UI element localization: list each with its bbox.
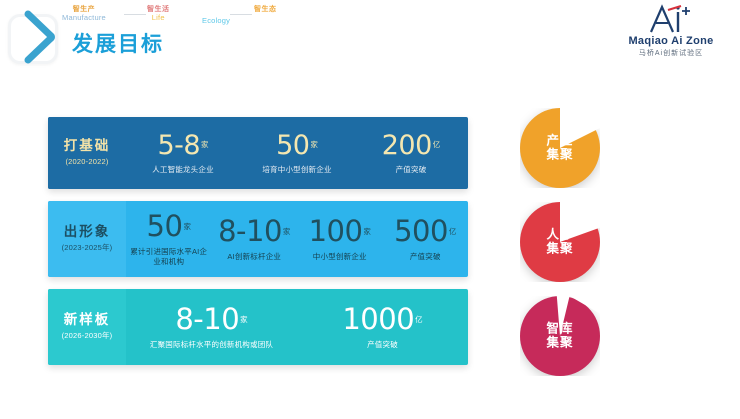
pie-badge-talent: 人才 集聚 xyxy=(520,202,600,282)
eyebrow-divider xyxy=(230,14,252,15)
metric-number: 100家 xyxy=(299,217,381,246)
metric-caption: 产值突破 xyxy=(299,340,466,350)
brand-name: Maqiao Ai Zone xyxy=(616,35,726,47)
phase-period: (2023-2025年) xyxy=(62,243,113,252)
chevron-right-icon xyxy=(24,10,58,64)
eyebrow-item-ecology: Ecology xyxy=(202,16,230,25)
metric-caption: 人工智能龙头企业 xyxy=(128,165,238,175)
metric-number: 5-8家 xyxy=(128,132,238,159)
metric-unit: 家 xyxy=(283,227,291,236)
ai-monogram-icon xyxy=(616,4,726,34)
phase-row: 新样板 (2026-2030年) 8-10家 汇聚国际标杆水平的创新机构或团队 … xyxy=(48,289,468,365)
metric-value: 8-10 xyxy=(218,214,282,248)
metric-value: 200 xyxy=(382,130,432,161)
metric-number: 50家 xyxy=(128,212,210,241)
phase-label: 打基础 (2020-2022) xyxy=(48,117,126,189)
metric-number: 50家 xyxy=(242,132,352,159)
metric-value: 5-8 xyxy=(157,130,200,161)
metric-item: 8-10家 汇聚国际标杆水平的创新机构或团队 xyxy=(126,305,297,350)
eyebrow-item-manufacture: 智生产 Manufacture xyxy=(62,6,106,22)
metric-caption: AI创新标杆企业 xyxy=(214,252,296,262)
metric-item: 8-10家 AI创新标杆企业 xyxy=(212,217,298,262)
slide-canvas: 智生产 Manufacture 智生活 Life Ecology 智生态 发展目… xyxy=(0,0,740,419)
metric-value: 8-10 xyxy=(175,302,239,336)
pie-badges: 产业 集聚 人才 集聚 智库 集聚 xyxy=(508,108,638,390)
pie-shape xyxy=(520,296,600,376)
page-title: 发展目标 xyxy=(72,28,164,58)
eyebrow-cn: 智生活 xyxy=(147,6,170,13)
eyebrow-en: Manufacture xyxy=(62,14,106,22)
metric-caption: 培育中小型创新企业 xyxy=(242,165,352,175)
metric-value: 500 xyxy=(394,214,448,248)
metric-number: 200亿 xyxy=(356,132,466,159)
brand-logo: Maqiao Ai Zone 马桥Ai创新试验区 xyxy=(616,4,726,58)
metric-caption: 汇聚国际标杆水平的创新机构或团队 xyxy=(128,340,295,350)
pie-badge-industry: 产业 集聚 xyxy=(520,108,600,188)
phase-rows: 打基础 (2020-2022) 5-8家 人工智能龙头企业 50家 培育中小型创… xyxy=(48,117,468,377)
metric-item: 100家 中小型创新企业 xyxy=(297,217,383,262)
metric-caption: 产值突破 xyxy=(356,165,466,175)
phase-name: 出形象 xyxy=(64,225,111,240)
metric-unit: 亿 xyxy=(433,140,441,149)
metric-value: 50 xyxy=(276,130,309,161)
eyebrow-cn: 智生产 xyxy=(62,6,106,13)
metric-unit: 亿 xyxy=(415,315,423,324)
eyebrow-item-life: 智生活 Life xyxy=(147,6,170,22)
phase-name: 打基础 xyxy=(64,139,111,154)
metric-item: 500亿 产值突破 xyxy=(383,217,469,262)
pie-shape xyxy=(520,108,600,188)
metric-unit: 家 xyxy=(183,222,191,231)
metric-number: 1000亿 xyxy=(299,305,466,334)
pie-shape xyxy=(520,202,600,282)
metric-caption: 中小型创新企业 xyxy=(299,252,381,262)
metric-item: 50家 培育中小型创新企业 xyxy=(240,132,354,175)
metric-unit: 家 xyxy=(201,140,209,149)
metric-list: 5-8家 人工智能龙头企业 50家 培育中小型创新企业 200亿 产值突破 xyxy=(126,117,468,189)
brand-subtitle: 马桥Ai创新试验区 xyxy=(616,48,726,58)
metric-unit: 家 xyxy=(310,140,318,149)
metric-value: 50 xyxy=(147,209,183,243)
chevron-logo-icon xyxy=(6,8,68,66)
metric-caption: 累计引进国际水平AI企业和机构 xyxy=(128,247,210,267)
eyebrow-en: Ecology xyxy=(202,17,230,25)
eyebrow-en: Life xyxy=(147,14,170,22)
metric-item: 5-8家 人工智能龙头企业 xyxy=(126,132,240,175)
metric-item: 50家 累计引进国际水平AI企业和机构 xyxy=(126,212,212,267)
metric-caption: 产值突破 xyxy=(385,252,467,262)
eyebrow-divider xyxy=(124,14,146,15)
metric-unit: 家 xyxy=(240,315,248,324)
metric-item: 1000亿 产值突破 xyxy=(297,305,468,350)
phase-label: 新样板 (2026-2030年) xyxy=(48,289,126,365)
phase-name: 新样板 xyxy=(64,313,111,328)
metric-list: 50家 累计引进国际水平AI企业和机构 8-10家 AI创新标杆企业 100家 … xyxy=(126,201,468,277)
eyebrow-cn: 智生态 xyxy=(254,6,277,13)
phase-row: 打基础 (2020-2022) 5-8家 人工智能龙头企业 50家 培育中小型创… xyxy=(48,117,468,189)
metric-item: 200亿 产值突破 xyxy=(354,132,468,175)
metric-number: 8-10家 xyxy=(128,305,295,334)
phase-label: 出形象 (2023-2025年) xyxy=(48,201,126,277)
metric-unit: 亿 xyxy=(449,227,457,236)
phase-period: (2026-2030年) xyxy=(62,331,113,340)
phase-row: 出形象 (2023-2025年) 50家 累计引进国际水平AI企业和机构 8-1… xyxy=(48,201,468,277)
metric-unit: 家 xyxy=(363,227,371,236)
phase-period: (2020-2022) xyxy=(65,157,108,166)
eyebrow-item-eco-cn: 智生态 xyxy=(254,6,277,13)
metric-number: 500亿 xyxy=(385,217,467,246)
metric-number: 8-10家 xyxy=(214,217,296,246)
pie-badge-thinktank: 智库 集聚 xyxy=(520,296,600,376)
metric-value: 100 xyxy=(309,214,363,248)
metric-list: 8-10家 汇聚国际标杆水平的创新机构或团队 1000亿 产值突破 xyxy=(126,289,468,365)
metric-value: 1000 xyxy=(342,302,414,336)
